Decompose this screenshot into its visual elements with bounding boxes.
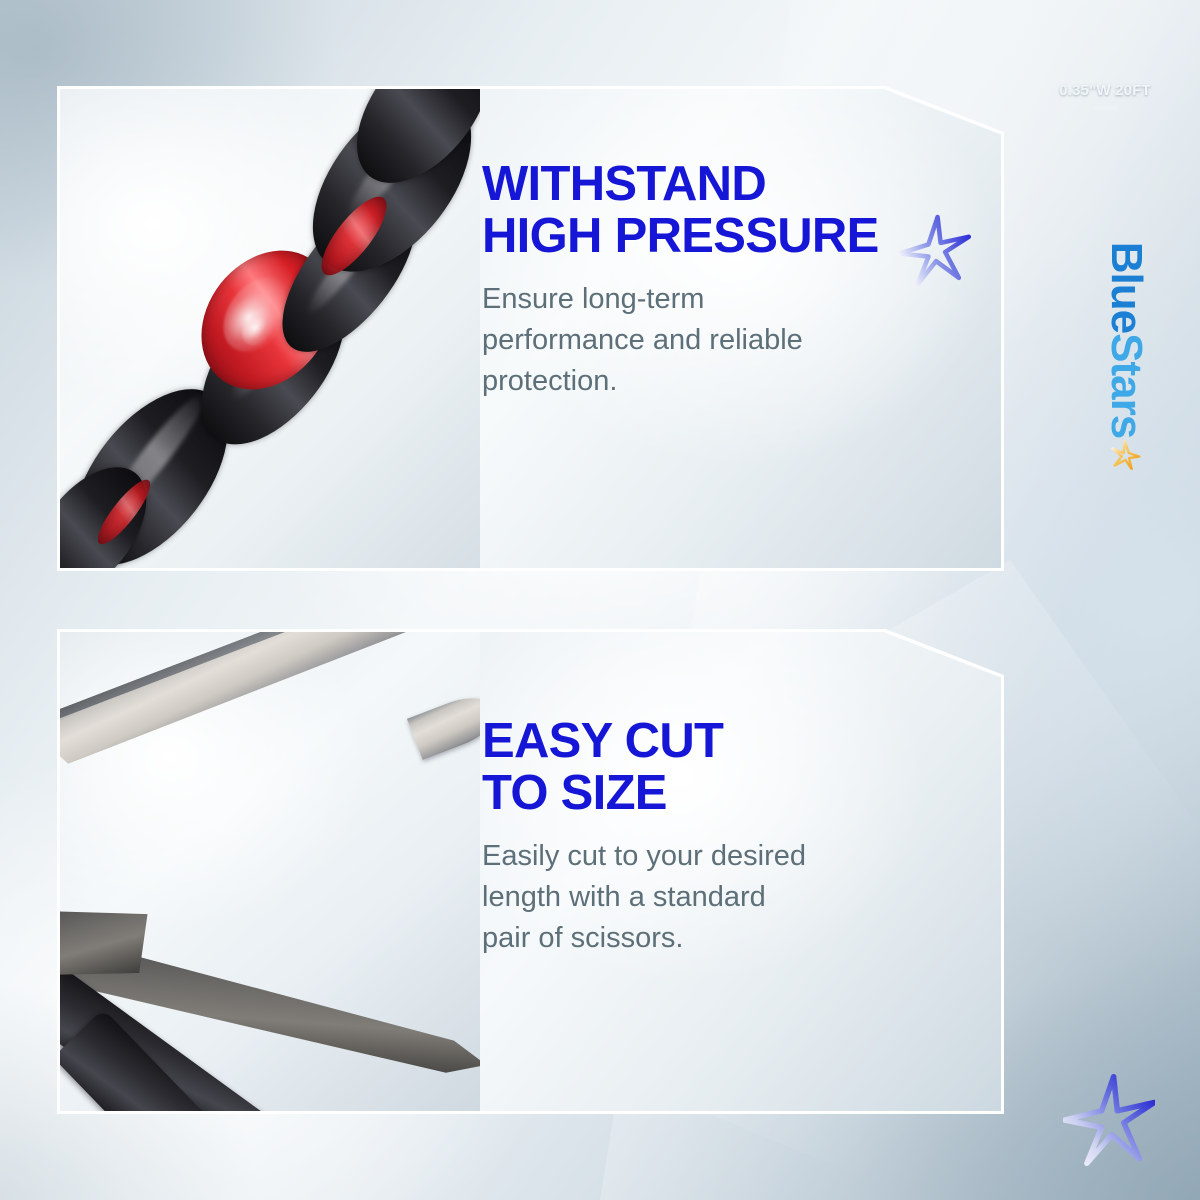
dash-divider-icon bbox=[1093, 106, 1117, 110]
panel-1-headline: WITHSTAND HIGH PRESSURE bbox=[482, 158, 982, 263]
gold-star-icon bbox=[1111, 440, 1141, 470]
twisted-cable-illustration bbox=[60, 89, 480, 568]
feature-infographic-canvas: WITHSTAND HIGH PRESSURE Ensure long-term… bbox=[0, 0, 1200, 1200]
panel-1-text-block: WITHSTAND HIGH PRESSURE Ensure long-term… bbox=[482, 158, 982, 402]
brand-name-stars: Stars bbox=[1104, 333, 1148, 438]
product-spec-label: 0.35"W 20FT bbox=[1032, 82, 1178, 110]
brand-name-blue: Blue bbox=[1104, 242, 1148, 333]
tape-photo-scene bbox=[60, 89, 480, 568]
panel-1-photo bbox=[60, 89, 480, 568]
panel-1-body-copy: Ensure long-term performance and reliabl… bbox=[482, 279, 982, 403]
panel-2-headline: EASY CUT TO SIZE bbox=[482, 715, 952, 820]
spec-dimensions-text: 0.35"W 20FT bbox=[1032, 82, 1178, 99]
panel-2-text-block: EASY CUT TO SIZE Easily cut to your desi… bbox=[482, 715, 952, 959]
brand-logo-bluestars: BlueStars bbox=[1096, 196, 1156, 516]
panel-2-photo bbox=[60, 632, 480, 1111]
scissors-photo-scene bbox=[60, 632, 480, 1111]
swoosh-star-icon bbox=[1063, 1070, 1155, 1170]
panel-2-body-copy: Easily cut to your desired length with a… bbox=[482, 836, 952, 960]
